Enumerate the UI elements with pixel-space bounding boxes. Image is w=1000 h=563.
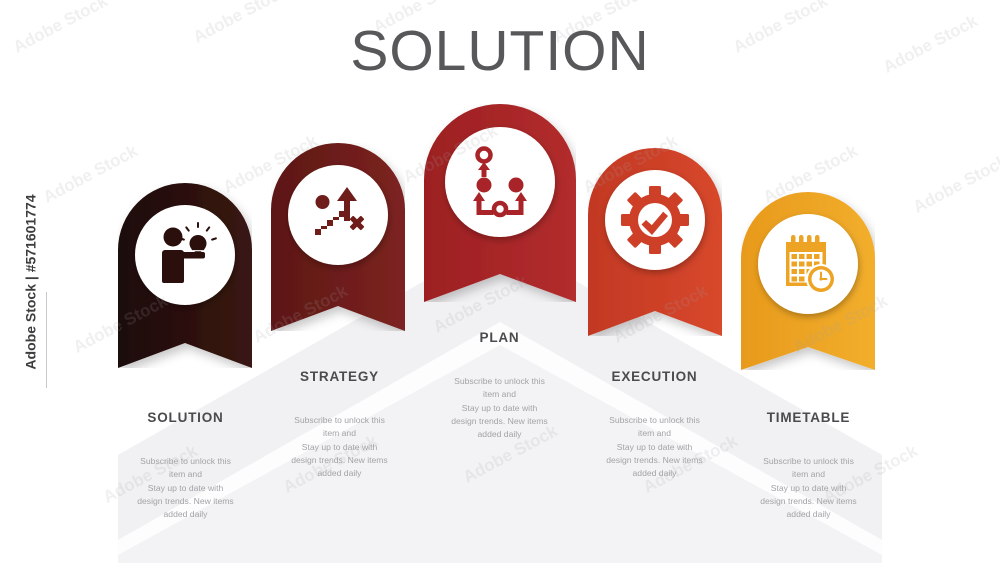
pin-step-4[interactable] [588, 148, 722, 336]
step-description-3: Subscribe to unlock this item and Stay u… [427, 375, 572, 442]
step-description-1: Subscribe to unlock this item and Stay u… [113, 455, 258, 522]
pin-step-2[interactable] [271, 143, 405, 331]
pin-step-5[interactable] [741, 192, 875, 370]
plan-tactics-board-icon [424, 104, 576, 302]
calendar-clock-icon [741, 192, 875, 370]
step-text-4: EXECUTION Subscribe to unlock this item … [582, 369, 727, 481]
pin-step-1[interactable] [118, 183, 252, 368]
strategy-path-arrow-icon [271, 143, 405, 331]
step-description-4: Subscribe to unlock this item and Stay u… [582, 414, 727, 481]
gear-check-icon [588, 148, 722, 336]
sidebar-watermark: Adobe Stock | #571601774 [14, 0, 48, 563]
step-text-5: TIMETABLE Subscribe to unlock this item … [736, 410, 881, 522]
step-text-1: SOLUTION Subscribe to unlock this item a… [113, 410, 258, 522]
step-label-5: TIMETABLE [736, 410, 881, 425]
person-idea-bulb-icon [118, 183, 252, 368]
watermark-tile: Adobe Stock [910, 151, 1000, 217]
sidebar-divider [46, 292, 47, 388]
step-label-4: EXECUTION [582, 369, 727, 384]
step-text-2: STRATEGY Subscribe to unlock this item a… [267, 369, 412, 481]
step-description-2: Subscribe to unlock this item and Stay u… [267, 414, 412, 481]
step-label-3: PLAN [427, 330, 572, 345]
infographic-canvas: SOLUTION [0, 0, 1000, 563]
step-text-3: PLAN Subscribe to unlock this item and S… [427, 330, 572, 442]
sidebar-watermark-text: Adobe Stock | #571601774 [23, 194, 39, 369]
page-title: SOLUTION [0, 18, 1000, 84]
step-label-1: SOLUTION [113, 410, 258, 425]
step-description-5: Subscribe to unlock this item and Stay u… [736, 455, 881, 522]
pin-step-3[interactable] [424, 104, 576, 302]
step-label-2: STRATEGY [267, 369, 412, 384]
